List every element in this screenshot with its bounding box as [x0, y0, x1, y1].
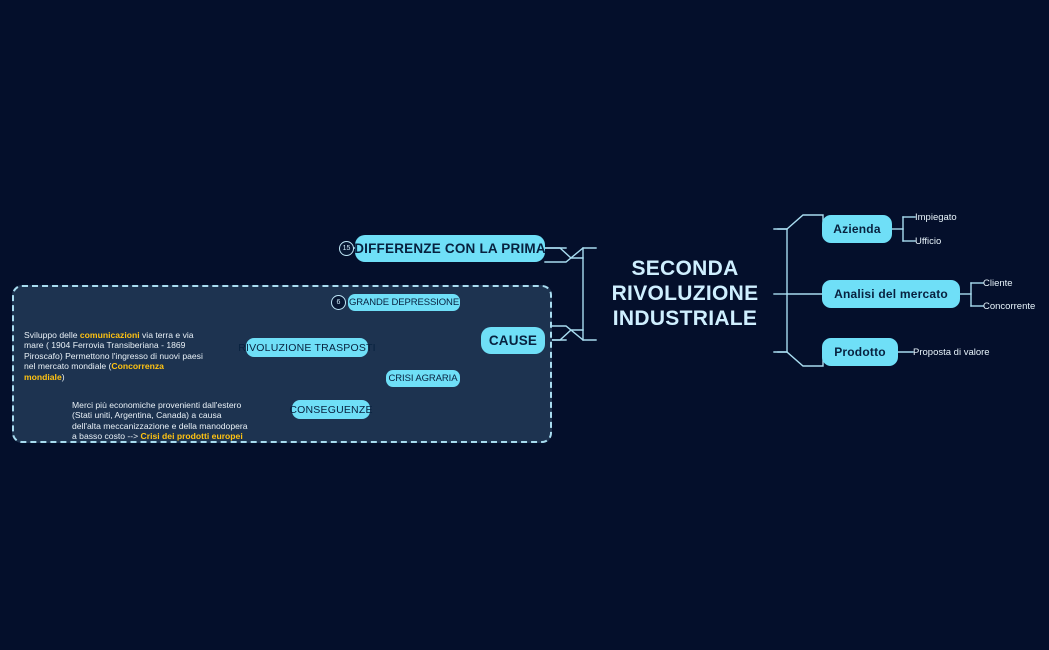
node-prodotto[interactable]: Prodotto [822, 338, 898, 366]
badge-grande-depressione: 6 [331, 295, 346, 310]
leaf-cliente[interactable]: Cliente [983, 278, 1013, 289]
node-rivoluzione-trasporti[interactable]: RIVOLUZIONE TRASPOSTI [246, 338, 368, 357]
mindmap-canvas: SECONDA RIVOLUZIONE INDUSTRIALE 15 DIFFE… [0, 0, 1049, 650]
note2-highlight-crisi: Crisi dei prodotti europei [141, 431, 243, 441]
note-conseguenze: Merci più economiche provenienti dall'es… [72, 389, 284, 442]
leaf-impiegato[interactable]: Impiegato [915, 212, 957, 223]
leaf-proposta-di-valore[interactable]: Proposta di valore [913, 347, 990, 358]
node-differenze-con-la-prima[interactable]: DIFFERENZE CON LA PRIMA [355, 235, 545, 262]
root-title: SECONDA RIVOLUZIONE INDUSTRIALE [596, 256, 774, 331]
node-cause[interactable]: CAUSE [481, 327, 545, 354]
note-highlight-comunicazioni: comunicazioni [80, 330, 140, 340]
note-rivoluzione-trasporti: Sviluppo delle comunicazioni via terra e… [24, 319, 220, 383]
note-text-part3: ) [62, 372, 65, 382]
badge-differenze: 15 [339, 241, 354, 256]
node-azienda[interactable]: Azienda [822, 215, 892, 243]
node-crisi-agraria[interactable]: CRISI AGRARIA [386, 370, 460, 387]
note-text-part1: Sviluppo delle [24, 330, 80, 340]
leaf-concorrente[interactable]: Concorrente [983, 301, 1035, 312]
node-grande-depressione[interactable]: GRANDE DEPRESSIONE [348, 294, 460, 311]
leaf-ufficio[interactable]: Ufficio [915, 236, 941, 247]
node-conseguenze[interactable]: CONSEGUENZE [292, 400, 370, 419]
node-analisi-del-mercato[interactable]: Analisi del mercato [822, 280, 960, 308]
